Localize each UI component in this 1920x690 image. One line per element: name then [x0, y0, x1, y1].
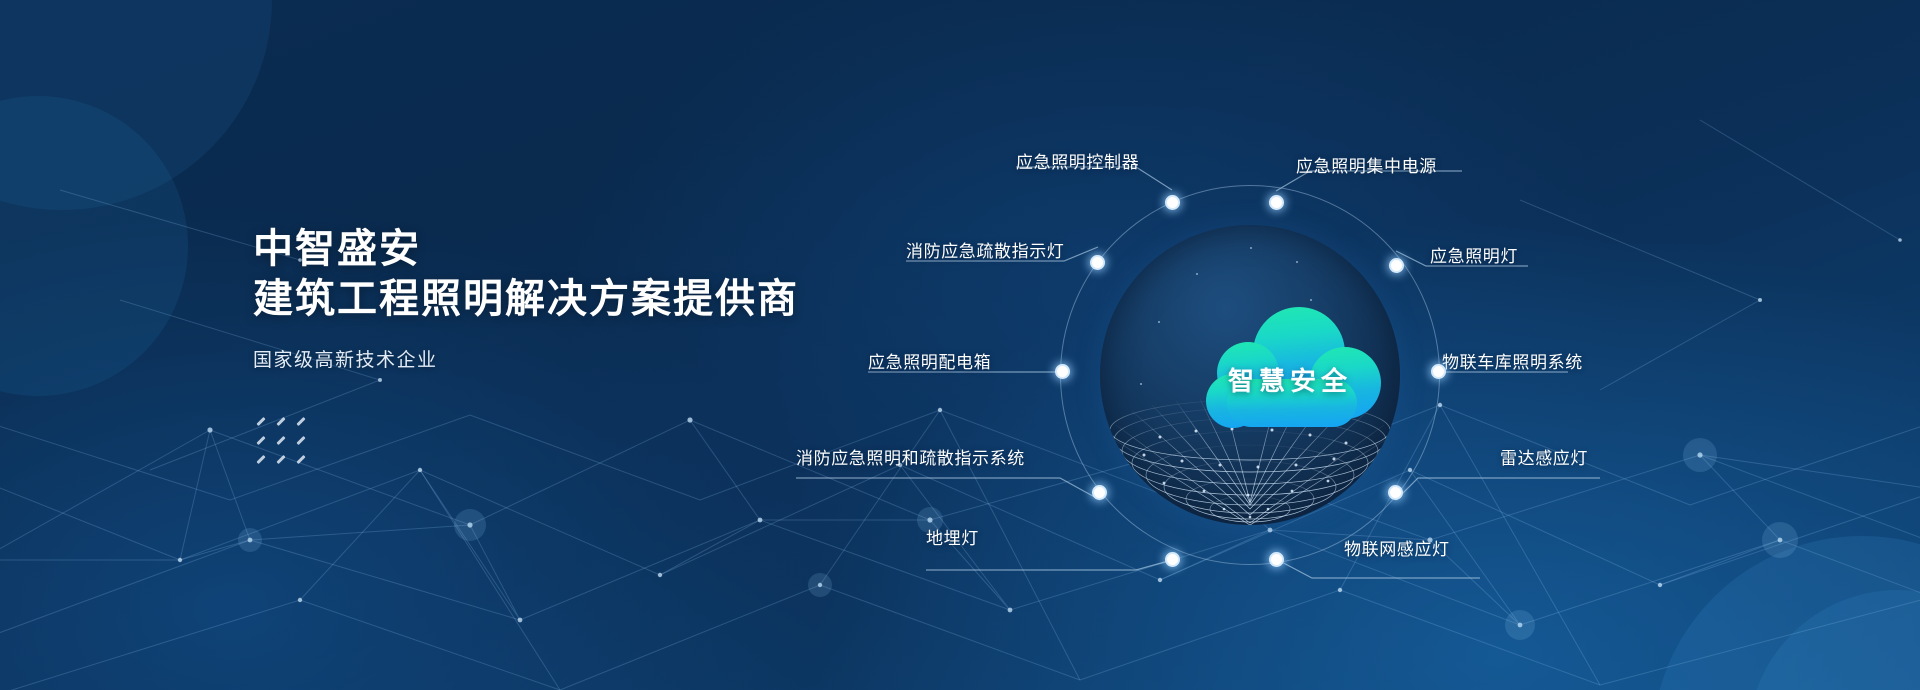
node-dot-iot-sensor-lamp[interactable] [1269, 552, 1284, 567]
slash-grid-icon [256, 418, 306, 466]
deco-circle-bottomright-b [1748, 590, 1920, 690]
page-title-line1: 中智盛安 [253, 224, 799, 274]
hero-subtitle: 国家级高新技术企业 [253, 345, 799, 372]
cloud-icon: 智慧安全 [1187, 307, 1393, 441]
node-label-evac-system[interactable]: 消防应急照明和疏散指示系统 [796, 444, 1025, 469]
node-label-distribution-box[interactable]: 应急照明配电箱 [868, 348, 991, 373]
node-dot-garage-iot-system[interactable] [1431, 364, 1446, 379]
node-dot-buried-light[interactable] [1165, 552, 1180, 567]
node-label-buried-light[interactable]: 地埋灯 [926, 524, 979, 549]
node-label-evac-sign-light[interactable]: 消防应急疏散指示灯 [906, 237, 1064, 262]
node-label-controller[interactable]: 应急照明控制器 [1016, 148, 1139, 173]
node-dot-central-power[interactable] [1269, 195, 1284, 210]
node-dot-distribution-box[interactable] [1055, 364, 1070, 379]
wireframe-globe-icon: 智慧安全 [1100, 225, 1400, 525]
node-label-garage-iot-system[interactable]: 物联车库照明系统 [1442, 348, 1583, 373]
node-dot-emergency-light[interactable] [1389, 258, 1404, 273]
smart-safety-diagram: 智慧安全 [1060, 185, 1440, 565]
node-dot-radar-sensor-lamp[interactable] [1388, 485, 1403, 500]
node-dot-evac-sign-light[interactable] [1090, 255, 1105, 270]
node-dot-evac-system[interactable] [1092, 485, 1107, 500]
deco-circle-bottomright-a [1652, 536, 1920, 690]
deco-circle-topleft-a [0, 0, 272, 210]
center-label: 智慧安全 [1187, 361, 1393, 398]
node-label-central-power[interactable]: 应急照明集中电源 [1296, 152, 1437, 177]
node-dot-controller[interactable] [1165, 195, 1180, 210]
hero-banner: 中智盛安 建筑工程照明解决方案提供商 国家级高新技术企业 [0, 0, 1920, 690]
deco-circle-topleft-b [0, 96, 188, 396]
hero-copy: 中智盛安 建筑工程照明解决方案提供商 国家级高新技术企业 [253, 224, 799, 372]
node-label-radar-sensor-lamp[interactable]: 雷达感应灯 [1500, 444, 1588, 469]
page-title-line2: 建筑工程照明解决方案提供商 [253, 274, 799, 324]
node-label-emergency-light[interactable]: 应急照明灯 [1430, 242, 1518, 267]
